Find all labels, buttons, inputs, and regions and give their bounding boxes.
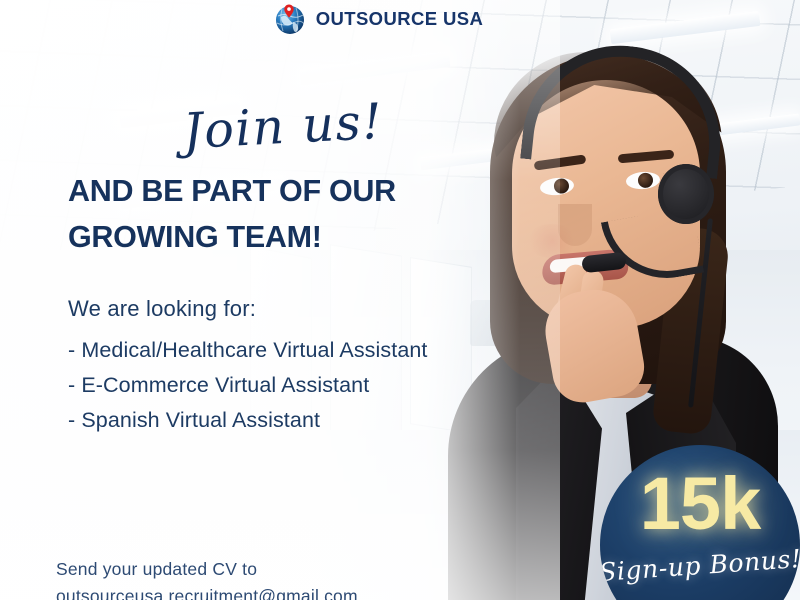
contact-email[interactable]: outsourceusa.recruitment@gmail.com bbox=[56, 583, 476, 600]
logo-group: OUTSOURCE USA bbox=[273, 2, 484, 36]
list-item: - E-Commerce Virtual Assistant bbox=[68, 368, 538, 403]
positions-list: - Medical/Healthcare Virtual Assistant -… bbox=[68, 333, 538, 437]
bonus-amount: 15k bbox=[640, 467, 760, 541]
list-item: - Spanish Virtual Assistant bbox=[68, 403, 538, 438]
nose bbox=[558, 204, 592, 246]
brand-header: OUTSOURCE USA bbox=[0, 0, 800, 38]
contact-cta: Send your updated CV to bbox=[56, 556, 476, 583]
recruitment-poster: OUTSOURCE USA Join us! AND BE PART OF OU… bbox=[0, 0, 800, 600]
join-us-script: Join us! bbox=[182, 93, 385, 160]
page-title: AND BE PART OF OUR GROWING TEAM! bbox=[68, 168, 498, 261]
globe-pin-icon bbox=[273, 2, 307, 36]
positions-intro: We are looking for: bbox=[68, 296, 256, 322]
iris bbox=[637, 172, 653, 188]
bonus-caption: Sign-up Bonus! bbox=[600, 544, 800, 587]
contact-block: Send your updated CV to outsourceusa.rec… bbox=[56, 556, 476, 600]
list-item: - Medical/Healthcare Virtual Assistant bbox=[68, 333, 538, 368]
brand-name: OUTSOURCE USA bbox=[316, 8, 484, 30]
